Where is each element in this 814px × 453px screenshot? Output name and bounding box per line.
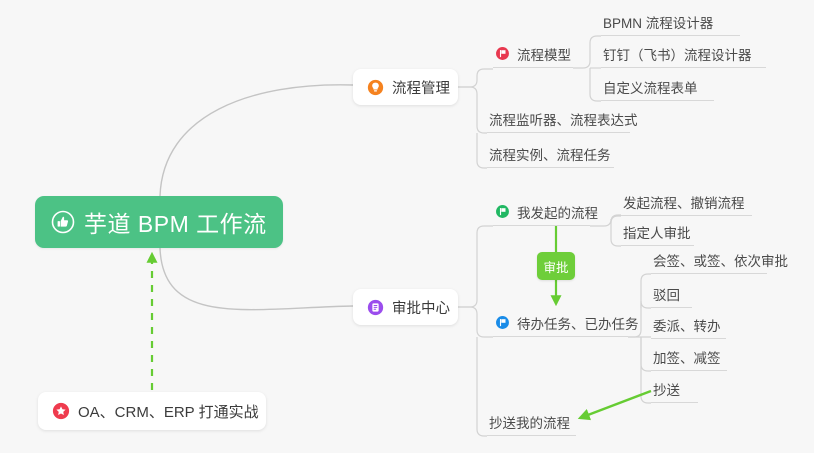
node-zidingyi-label: 自定义流程表单 [603,77,698,97]
lightbulb-icon [367,79,384,96]
node-chaosong[interactable]: 抄送 [651,375,698,403]
node-bpmn-label: BPMN 流程设计器 [603,12,713,32]
node-liucheng-moxing-label: 流程模型 [517,44,571,64]
branch-liucheng-guanli[interactable]: 流程管理 [353,69,458,105]
node-liucheng-jianting[interactable]: 流程监听器、流程表达式 [487,105,630,133]
node-daiban-yiban-label: 待办任务、已办任务 [517,313,639,333]
node-zhidingren-shenpi-label: 指定人审批 [623,222,691,242]
node-liucheng-shili[interactable]: 流程实例、流程任务 [487,140,614,168]
node-weipai-zhuanban-label: 委派、转办 [653,315,721,335]
clipboard-icon [367,299,384,316]
node-zidingyi[interactable]: 自定义流程表单 [601,73,714,101]
link-wofaqi-to-zhidingren [611,226,621,246]
node-liucheng-jianting-label: 流程监听器、流程表达式 [489,109,638,129]
flag-icon [495,315,510,330]
node-faqi-chexiao-label: 发起流程、撤销流程 [623,192,745,212]
node-dingding[interactable]: 钉钉（飞书）流程设计器 [601,40,766,68]
node-bpmn[interactable]: BPMN 流程设计器 [601,8,740,36]
branch-shenpi-zhongxin[interactable]: 审批中心 [353,289,458,325]
link-root-to-shenpi-zhongxin [160,248,353,310]
flag-icon [495,46,510,61]
root-label: 芋道 BPM 工作流 [84,205,267,239]
link-shenpi-zhongxin-to-chaosongwode [477,337,487,436]
footnote-node[interactable]: OA、CRM、ERP 打通实战 [38,392,266,430]
node-liucheng-moxing[interactable]: 流程模型 [493,40,573,68]
shenpi-badge: 审批 [537,252,575,280]
link-daiban-to-chaosong [641,337,651,403]
node-huiqian-label: 会签、或签、依次审批 [653,250,788,270]
node-jiaqian-jianqian[interactable]: 加签、减签 [651,343,727,371]
link-daiban-to-bohui [641,301,651,308]
node-weipai-zhuanban[interactable]: 委派、转办 [651,311,726,339]
link-shenpi-zhongxin-to-wofaqi [458,226,493,307]
node-zhidingren-shenpi[interactable]: 指定人审批 [621,218,694,246]
node-dingding-label: 钉钉（飞书）流程设计器 [603,44,752,64]
node-huiqian[interactable]: 会签、或签、依次审批 [651,246,767,274]
shenpi-badge-label: 审批 [543,257,568,276]
node-faqi-chexiao[interactable]: 发起流程、撤销流程 [621,188,752,216]
link-liucheng-guanli-spine [458,69,493,87]
node-bohui[interactable]: 驳回 [651,280,692,308]
link-liucheng-guanli-to-shili [477,133,487,168]
link-wofaqi-to-faqi [611,215,621,226]
node-jiaqian-jianqian-label: 加签、减签 [653,347,721,367]
link-liucheng-guanli-to-jianting [458,87,487,133]
root-node[interactable]: 芋道 BPM 工作流 [35,196,283,248]
node-liucheng-shili-label: 流程实例、流程任务 [489,144,611,164]
arrow-chaosong-to-chaosongwode [580,391,651,418]
branch-shenpi-zhongxin-label: 审批中心 [392,297,450,318]
link-daiban-to-jiaqian [641,337,651,371]
node-daiban-yiban[interactable]: 待办任务、已办任务 [493,309,628,337]
flag-icon [495,204,510,219]
link-shenpi-zhongxin-to-daiban [458,307,493,337]
thumbs-up-icon [51,210,75,234]
node-wofaqi[interactable]: 我发起的流程 [493,198,590,226]
link-liucheng-moxing-spine [573,36,601,68]
link-liucheng-moxing-to-zidingyi [590,68,601,101]
node-bohui-label: 驳回 [653,284,680,304]
mindmap-canvas: 芋道 BPM 工作流 流程管理 流程模型 BPMN 流程设计器 钉钉（飞书）流程… [0,0,814,453]
node-chaosong-label: 抄送 [653,379,680,399]
footnote-label: OA、CRM、ERP 打通实战 [78,401,259,422]
node-chaosong-wode-liucheng[interactable]: 抄送我的流程 [487,408,576,436]
branch-liucheng-guanli-label: 流程管理 [392,77,450,98]
star-icon [52,402,70,420]
node-chaosong-wode-liucheng-label: 抄送我的流程 [489,412,570,432]
node-wofaqi-label: 我发起的流程 [517,202,598,222]
link-root-to-liucheng-guanli [160,85,353,196]
